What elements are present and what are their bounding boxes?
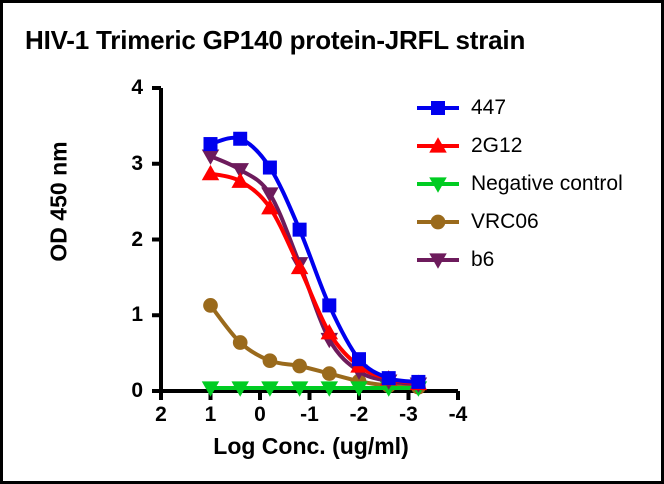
data-point <box>263 161 277 175</box>
legend-item[interactable]: VRC06 <box>415 203 651 241</box>
series-line <box>211 174 419 384</box>
x-tick-label: 2 <box>155 403 167 427</box>
data-point <box>411 375 425 389</box>
x-axis-title: Log Conc. (ug/ml) <box>161 433 461 460</box>
chart-legend: 4472G12Negative controlVRC06b6 <box>415 89 651 279</box>
legend-marker-icon <box>415 135 461 157</box>
x-tick-label: 1 <box>205 403 217 427</box>
legend-key-swatch <box>415 211 461 233</box>
y-axis-title: OD 450 nm <box>46 122 73 282</box>
data-point <box>263 353 278 368</box>
x-tick-label: -3 <box>399 403 418 427</box>
legend-marker-icon <box>415 211 461 233</box>
y-tick-label: 2 <box>119 228 143 252</box>
data-point <box>202 165 220 180</box>
legend-label: VRC06 <box>471 210 539 234</box>
x-tick-label: -1 <box>300 403 319 427</box>
legend-key-swatch <box>415 135 461 157</box>
legend-item[interactable]: b6 <box>415 241 651 279</box>
legend-label: 447 <box>471 96 506 120</box>
legend-label: b6 <box>471 248 494 272</box>
data-point <box>322 366 337 381</box>
x-tick-label: 0 <box>254 403 266 427</box>
data-point <box>203 298 218 313</box>
data-point <box>322 298 336 312</box>
legend-marker-icon <box>415 249 461 271</box>
y-tick-label: 4 <box>119 76 143 100</box>
data-point <box>233 132 247 146</box>
legend-item[interactable]: Negative control <box>415 165 651 203</box>
y-tick-label: 0 <box>119 379 143 403</box>
legend-marker-icon <box>415 173 461 195</box>
data-point <box>292 359 307 374</box>
chart-figure: HIV-1 Trimeric GP140 protein-JRFL strain… <box>0 0 664 484</box>
series-2g12 <box>202 165 427 390</box>
y-tick-label: 3 <box>119 152 143 176</box>
legend-key-swatch <box>415 97 461 119</box>
data-point <box>233 335 248 350</box>
data-point <box>352 352 366 366</box>
legend-key-swatch <box>415 173 461 195</box>
data-point <box>204 137 218 151</box>
legend-item[interactable]: 447 <box>415 89 651 127</box>
legend-marker <box>431 101 445 115</box>
x-tick-label: -2 <box>350 403 369 427</box>
legend-key-swatch <box>415 249 461 271</box>
x-tick-label: -4 <box>449 403 468 427</box>
legend-marker-icon <box>415 97 461 119</box>
y-tick-label: 1 <box>119 303 143 327</box>
legend-label: Negative control <box>471 172 623 196</box>
data-point <box>293 223 307 237</box>
legend-marker <box>431 215 446 230</box>
data-point <box>382 371 396 385</box>
legend-item[interactable]: 2G12 <box>415 127 651 165</box>
legend-label: 2G12 <box>471 134 522 158</box>
